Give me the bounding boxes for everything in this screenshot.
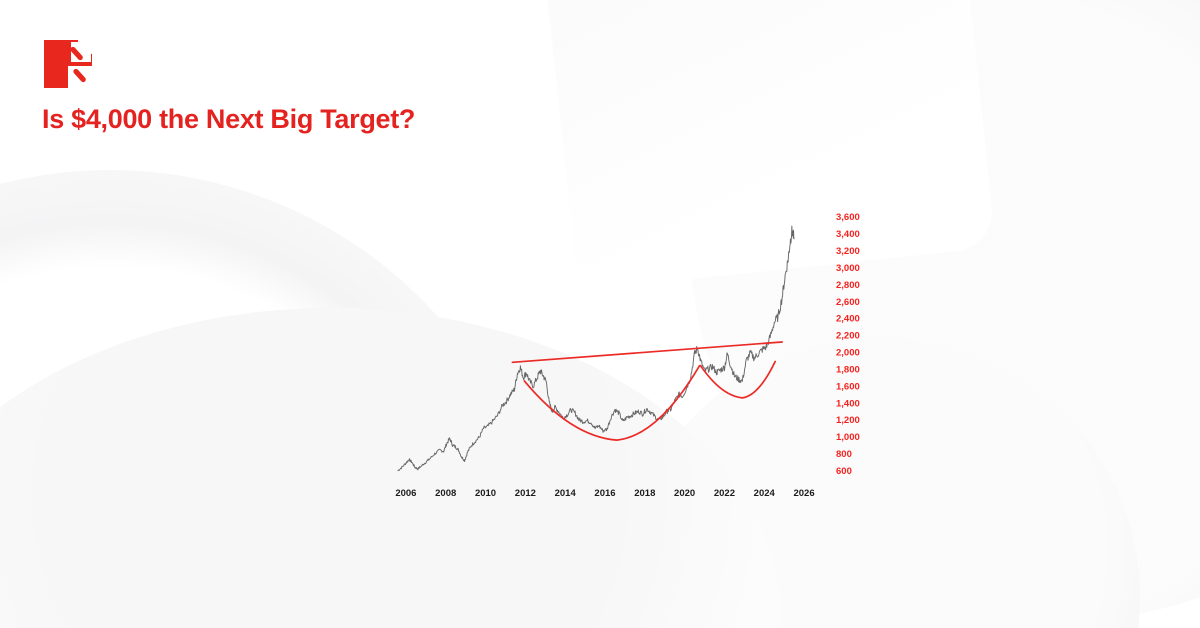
y-axis-tick-label: 600 <box>836 466 852 477</box>
y-axis-tick-label: 3,400 <box>836 229 860 240</box>
y-axis-tick-label: 1,600 <box>836 381 860 392</box>
page-title: Is $4,000 the Next Big Target? <box>42 104 415 135</box>
x-axis-tick-label: 2018 <box>634 488 655 499</box>
x-axis-tick-label: 2024 <box>754 488 776 499</box>
gold-price-chart: 3,6003,4003,2003,0002,8002,6002,4002,200… <box>378 196 888 516</box>
x-axis-tick-label: 2008 <box>435 488 456 499</box>
chart-svg: 3,6003,4003,2003,0002,8002,6002,4002,200… <box>378 196 888 516</box>
y-axis-tick-label: 2,600 <box>836 297 860 308</box>
brand-logo[interactable] <box>44 40 92 88</box>
y-axis-tick-label: 2,400 <box>836 314 860 325</box>
x-axis-tick-label: 2010 <box>475 488 496 499</box>
x-axis-tick-label: 2012 <box>515 488 536 499</box>
y-axis-tick-label: 800 <box>836 449 852 460</box>
pattern-annotations <box>512 342 782 440</box>
x-axis-tick-label: 2016 <box>594 488 615 499</box>
y-axis-tick-label: 3,000 <box>836 263 860 274</box>
y-axis-tick-label: 3,600 <box>836 212 860 223</box>
y-axis-tick-label: 2,800 <box>836 280 860 291</box>
y-axis-tick-label: 3,200 <box>836 246 860 257</box>
price-series <box>398 226 794 471</box>
x-axis-tick-label: 2014 <box>555 488 577 499</box>
x-axis-tick-label: 2020 <box>674 488 695 499</box>
y-axis-tick-label: 1,400 <box>836 398 860 409</box>
x-axis-tick-label: 2026 <box>793 488 814 499</box>
y-axis-tick-label: 1,200 <box>836 415 860 426</box>
x-axis-tick-label: 2022 <box>714 488 735 499</box>
y-axis-tick-label: 1,800 <box>836 364 860 375</box>
y-axis-tick-label: 1,000 <box>836 432 860 443</box>
vertical-gridlines <box>406 210 804 476</box>
poster-canvas: Is $4,000 the Next Big Target? <box>0 0 1200 628</box>
document-slash-logo-icon <box>44 40 92 88</box>
y-axis-tick-label: 2,000 <box>836 348 860 359</box>
x-axis-labels: 2006200820102012201420162018202020222024… <box>395 488 814 499</box>
y-axis-labels: 3,6003,4003,2003,0002,8002,6002,4002,200… <box>836 212 860 477</box>
x-axis-tick-label: 2006 <box>395 488 416 499</box>
y-axis-tick-label: 2,200 <box>836 331 860 342</box>
